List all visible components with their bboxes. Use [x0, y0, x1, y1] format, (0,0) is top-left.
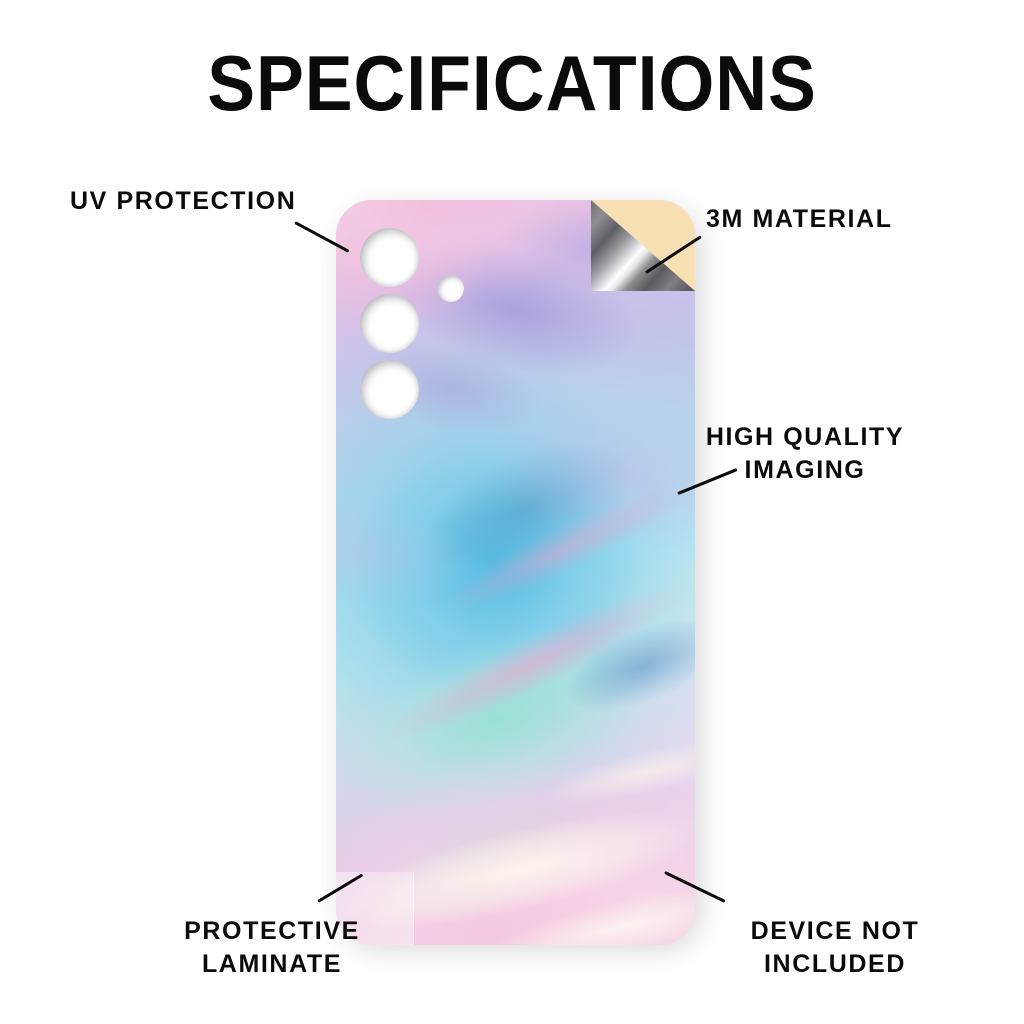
peel-corner-3m	[591, 200, 695, 291]
callout-label-uv-protection: UV PROTECTION	[70, 185, 296, 218]
callout-label-device-not-included: DEVICE NOT INCLUDED	[700, 915, 970, 981]
callout-label-3m-material: 3M MATERIAL	[706, 203, 893, 236]
callout-label-protective-laminate: PROTECTIVE LAMINATE	[122, 915, 422, 981]
camera-lens-cutout-1	[360, 228, 419, 287]
specifications-infographic: SPECIFICATIONS UV PROTECTION 3M MATERIAL…	[0, 0, 1024, 1024]
page-title: SPECIFICATIONS	[41, 44, 983, 122]
camera-lens-cutout-2	[360, 294, 419, 353]
callout-label-high-quality-imaging: HIGH QUALITY IMAGING	[660, 421, 950, 487]
camera-flash-cutout	[437, 275, 464, 302]
phone-skin-mockup	[336, 200, 695, 945]
camera-lens-cutout-3	[360, 360, 419, 419]
